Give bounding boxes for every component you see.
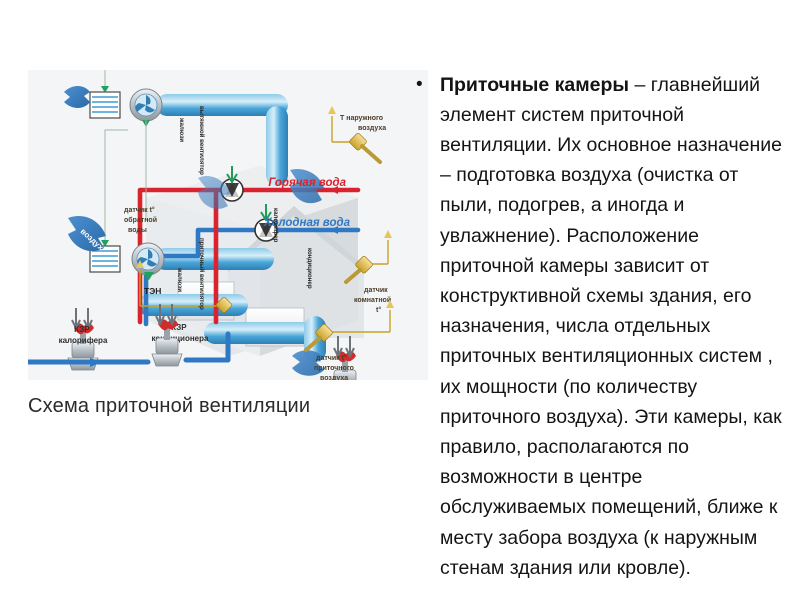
sensor-return-water-line3: воды [128,227,147,234]
ventilation-scheme-image: воздух [28,70,428,380]
content-text-column: •Приточные камеры – главнейший элемент с… [408,50,788,602]
sensor-return-water-line2: обратной [124,216,157,224]
bullet-lead-term: Приточные камеры [440,74,629,96]
sensor-outdoor-air-line2: воздуха [358,125,386,132]
supply-fan-label: приточный вентилятор [198,238,205,310]
louver-label-2: жалюзи [176,267,183,292]
conditioner-label: кондиционер [306,248,313,289]
sensor-room-temp-line3: t° [376,306,381,314]
sensor-outdoor-air: Т наружного воздуха [328,106,386,162]
bullet-paragraph: •Приточные камеры – главнейший элемент с… [408,70,788,583]
bullet-body-text: – главнейший элемент систем приточной ве… [440,74,782,579]
sensor-supply-air-line2: приточного [314,365,354,372]
heater-valve-label-line2: калорифера [59,336,108,345]
inlet-air-arrow-top [64,86,90,108]
supply-fan [132,243,164,275]
sensor-room-temp-line2: комнатной [354,296,391,304]
sensor-return-water-line1: датчик t° [124,206,155,214]
heater-label: калорифер [272,208,279,243]
exhaust-fan-label: вытяжной вентилятор [198,106,205,175]
bullet-marker: • [416,70,423,100]
sensor-supply-air-line3: воздуха [320,375,348,380]
svg-text:Т наружного воздуха: Т наружного воздуха [340,115,386,132]
sensor-supply-air-line1: датчик t° [316,354,347,362]
diagram-caption: Схема приточной вентиляции [28,395,428,418]
exhaust-fan [130,89,162,121]
heating-element-label: ТЭН [144,286,161,296]
sensor-outdoor-air-line1: Т наружного [340,115,383,122]
inlet-air-arrow: воздух [68,216,106,252]
ventilation-scheme-svg: воздух [28,70,428,380]
louver-grille-top [90,92,120,118]
hot-water-label: Горячая вода [268,177,346,189]
diagram-column: воздух [0,0,432,600]
heater-valve-label-line1: КЗР [74,325,90,334]
sensor-room-temp-line1: датчик [364,287,388,294]
louver-label-1: жалюзи [178,117,185,142]
